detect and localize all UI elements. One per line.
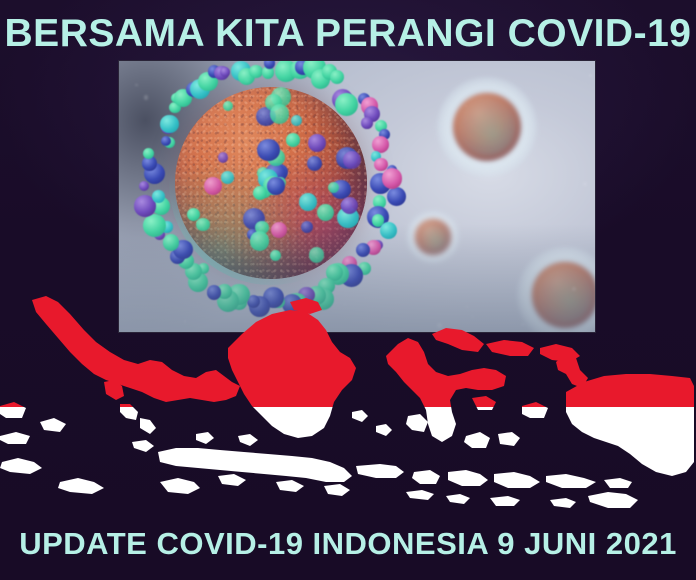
footer-caption: UPDATE COVID-19 INDONESIA 9 JUNI 2021 xyxy=(0,525,696,563)
spike-protein xyxy=(249,65,262,78)
flag-white-band xyxy=(0,407,696,521)
spike-protein xyxy=(372,136,389,153)
indonesia-map-svg xyxy=(0,286,696,521)
spike-protein xyxy=(387,187,406,206)
spike-protein xyxy=(161,136,171,146)
spike-protein xyxy=(160,115,179,134)
spike-protein xyxy=(267,177,285,195)
bokeh-speck xyxy=(276,134,279,137)
spike-protein xyxy=(328,182,339,193)
bokeh-speck xyxy=(589,74,592,77)
flag-red-band xyxy=(0,286,696,407)
spike-protein xyxy=(330,70,345,85)
spike-protein xyxy=(253,186,267,200)
spike-protein xyxy=(152,190,165,203)
spike-protein xyxy=(286,133,300,147)
spike-protein xyxy=(264,60,275,69)
virus-particle-background-1 xyxy=(437,77,537,177)
indonesia-map xyxy=(0,286,696,521)
page-title: BERSAMA KITA PERANGI COVID-19 xyxy=(0,12,696,56)
spike-protein xyxy=(335,93,358,116)
spike-protein xyxy=(204,177,222,195)
spike-protein xyxy=(361,117,372,128)
spike-protein xyxy=(291,115,302,126)
bokeh-speck xyxy=(551,119,553,121)
bokeh-speck xyxy=(347,150,349,152)
spike-protein xyxy=(270,104,290,124)
spike-protein xyxy=(382,168,402,188)
bokeh-speck xyxy=(307,155,311,159)
spike-protein xyxy=(317,204,334,221)
spike-protein xyxy=(218,152,228,162)
covid-update-poster: BERSAMA KITA PERANGI COVID-19 xyxy=(0,0,696,580)
bokeh-speck xyxy=(583,182,587,186)
bokeh-speck xyxy=(230,172,234,176)
map-flag-fill xyxy=(0,286,696,521)
